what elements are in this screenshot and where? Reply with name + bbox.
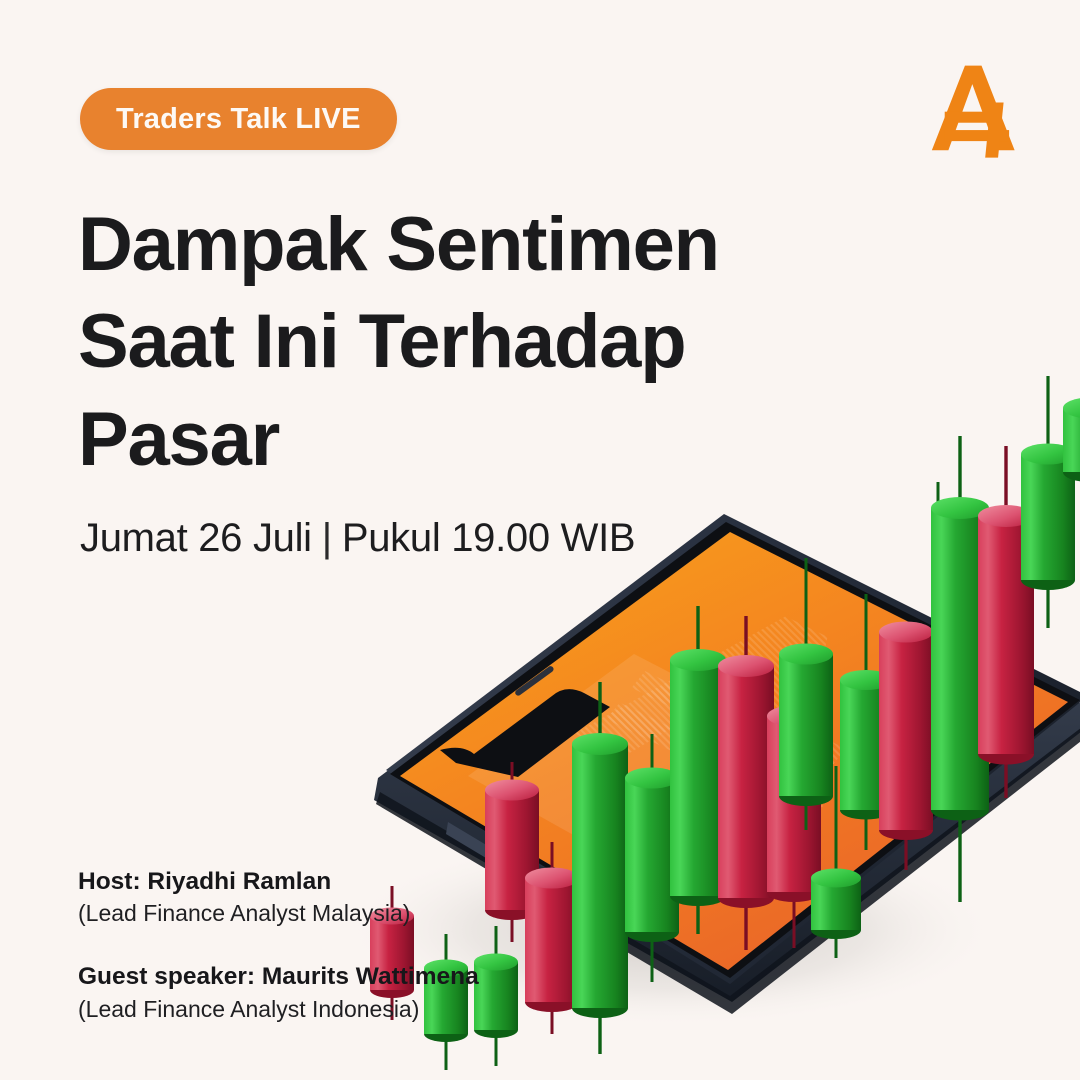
- aetos-a-logo: [930, 62, 1022, 158]
- headline-line-1: Dampak Sentimen: [78, 196, 778, 293]
- candle: [572, 682, 628, 1054]
- badge-label: Traders Talk LIVE: [116, 103, 361, 136]
- candle: [879, 622, 933, 871]
- promo-poster: Traders Talk LIVE Dampak Sentimen Saat I…: [0, 0, 1080, 1080]
- speaker-credits: Host: Riyadhi Ramlan (Lead Finance Analy…: [78, 866, 479, 1025]
- credits-spacer: [78, 929, 479, 961]
- event-date: Jumat 26 Juli: [80, 516, 312, 560]
- candle: [718, 616, 774, 950]
- candle: [670, 606, 726, 934]
- guest-name: Guest speaker: Maurits Wattimena: [78, 961, 479, 993]
- candle: [525, 842, 579, 1034]
- guest-role: (Lead Finance Analyst Indonesia): [78, 994, 479, 1025]
- host-name: Host: Riyadhi Ramlan: [78, 866, 479, 898]
- host-role: (Lead Finance Analyst Malaysia): [78, 898, 479, 929]
- traders-talk-live-badge: Traders Talk LIVE: [80, 88, 397, 150]
